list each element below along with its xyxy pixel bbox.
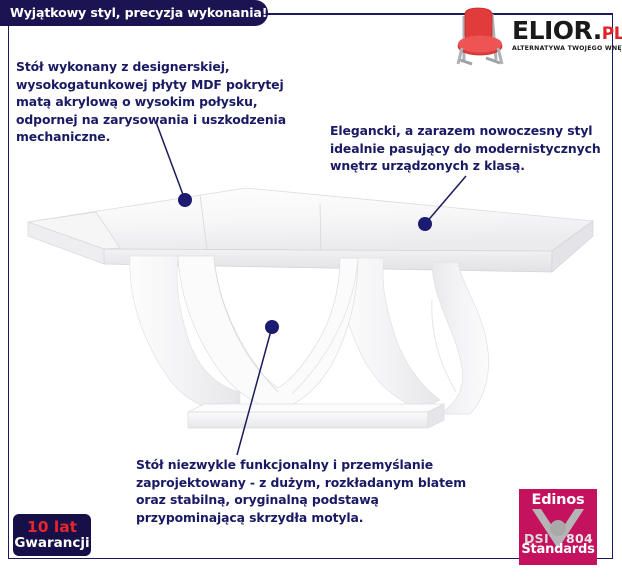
callout-dot-function[interactable] xyxy=(265,320,279,334)
brand-tagline: ALTERNATYWA TWOJEGO WNĘTRZA xyxy=(512,45,602,52)
callout-dot-style[interactable] xyxy=(418,217,432,231)
brand-name: ELIOR xyxy=(512,16,593,45)
chair-icon xyxy=(452,6,508,68)
edinos-certification-badge: Edinos DSI 804 Standards xyxy=(519,489,597,565)
edinos-standards-label: Standards xyxy=(519,542,597,557)
brand-logo[interactable]: ELIOR.PL ALTERNATYWA TWOJEGO WNĘTRZA xyxy=(452,6,602,72)
warranty-years: 10 lat xyxy=(27,520,77,536)
callout-text-material: Stół wykonany z designerskiej, wysokogat… xyxy=(16,58,316,146)
edinos-name: Edinos xyxy=(519,492,597,508)
warranty-label: Gwarancji xyxy=(14,536,89,550)
brand-text: ELIOR.PL ALTERNATYWA TWOJEGO WNĘTRZA xyxy=(512,18,602,62)
brand-wordmark: ELIOR.PL xyxy=(512,18,602,43)
brand-tld: PL xyxy=(602,24,622,44)
leader-line-style xyxy=(425,176,466,224)
page-title: Wyjątkowy styl, precyzja wykonania! xyxy=(10,7,267,20)
brand-dot: . xyxy=(593,16,602,45)
callout-text-function: Stół niezwykle funkcjonalny i przemyślan… xyxy=(136,456,476,526)
leader-line-function xyxy=(237,327,272,455)
callout-text-style: Elegancki, a zarazem nowoczesny styl ide… xyxy=(330,122,606,175)
callout-dot-material[interactable] xyxy=(178,193,192,207)
warranty-badge: 10 lat Gwarancji xyxy=(13,514,91,556)
header-banner: Wyjątkowy styl, precyzja wykonania! xyxy=(0,0,268,26)
infographic-page: Wyjątkowy styl, precyzja wykonania! ELIO… xyxy=(0,0,622,581)
